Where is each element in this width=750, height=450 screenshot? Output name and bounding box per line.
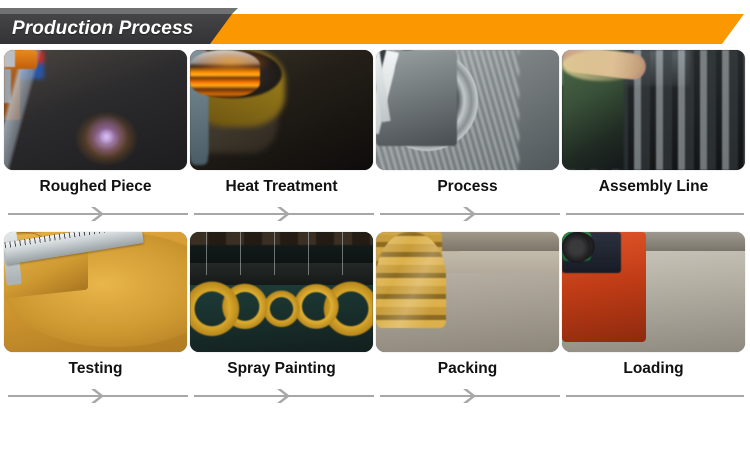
induction-hardening-photo — [190, 50, 373, 170]
step-label: Roughed Piece — [4, 170, 187, 204]
process-arrow — [8, 388, 188, 404]
arrow-right-icon — [275, 206, 293, 222]
step-label: Spray Painting — [190, 352, 373, 386]
step-label: Process — [376, 170, 559, 204]
step-label: Assembly Line — [562, 170, 745, 204]
process-arrow — [566, 206, 744, 222]
step-label: Heat Treatment — [190, 170, 373, 204]
page-title: Production Process — [12, 14, 193, 44]
assembly-line-photo — [562, 50, 745, 170]
arrow-right-icon — [89, 206, 107, 222]
arrow-right-icon — [89, 388, 107, 404]
forklift-loading-photo — [562, 232, 745, 352]
step-label: Packing — [376, 352, 559, 386]
cnc-machining-photo — [376, 50, 559, 170]
palletized-packing-photo — [376, 232, 559, 352]
process-step-heat-treatment[interactable]: Heat Treatment — [190, 50, 373, 204]
arrow-right-icon — [461, 206, 479, 222]
process-row-1: Roughed Piece Heat Treatment P — [0, 50, 750, 232]
process-step-testing[interactable]: Testing — [4, 232, 187, 386]
process-step-loading[interactable]: Loading — [562, 232, 745, 386]
process-step-roughed-piece[interactable]: Roughed Piece — [4, 50, 187, 204]
process-arrow — [380, 388, 560, 404]
process-arrow — [194, 388, 374, 404]
process-arrow — [194, 206, 374, 222]
step-label: Testing — [4, 352, 187, 386]
process-row-2: Testing Spray Painting Packing — [0, 232, 750, 414]
process-grid: Roughed Piece Heat Treatment P — [0, 50, 750, 414]
sprocket-painting-photo — [190, 232, 373, 352]
arrow-right-icon — [461, 388, 479, 404]
caliper-measurement-photo — [4, 232, 187, 352]
process-arrow — [8, 206, 188, 222]
process-arrow — [566, 388, 744, 404]
process-arrow — [380, 206, 560, 222]
arrow-right-icon — [275, 388, 293, 404]
page-header: Production Process — [0, 0, 750, 48]
process-arrow-row-1 — [0, 206, 750, 222]
process-step-assembly-line[interactable]: Assembly Line — [562, 50, 745, 204]
process-step-spray-painting[interactable]: Spray Painting — [190, 232, 373, 386]
plasma-cutting-photo — [4, 50, 187, 170]
process-step-process[interactable]: Process — [376, 50, 559, 204]
process-arrow-row-2 — [0, 388, 750, 404]
step-label: Loading — [562, 352, 745, 386]
process-step-packing[interactable]: Packing — [376, 232, 559, 386]
